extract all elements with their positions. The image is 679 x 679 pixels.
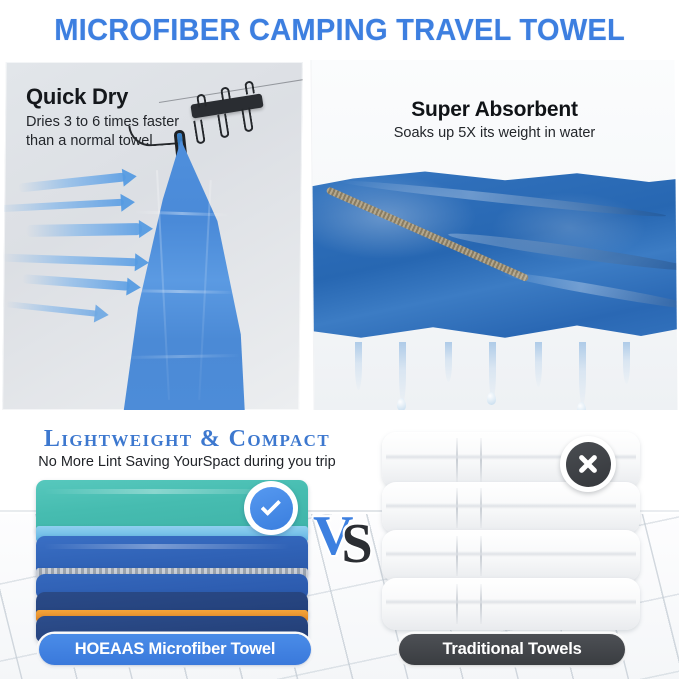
vs-divider-label: VS	[313, 508, 371, 564]
x-circle-icon	[560, 436, 616, 492]
wind-arrow	[22, 274, 130, 291]
x-circle-fill	[566, 442, 611, 487]
water-drip	[399, 342, 406, 404]
white-towel-layer	[382, 482, 640, 534]
wind-arrow	[6, 301, 98, 317]
hook-icon	[241, 107, 254, 132]
water-drip	[445, 342, 452, 382]
hook-icon	[220, 86, 231, 100]
super-absorbent-subtitle: Soaks up 5X its weight in water	[313, 125, 676, 141]
super-absorbent-text-block: Super Absorbent Soaks up 5X its weight i…	[313, 98, 676, 141]
wind-arrow	[18, 172, 126, 192]
label-traditional-towels: Traditional Towels	[399, 634, 625, 665]
comparison-heading-block: Lightweight & Compact No More Lint Savin…	[22, 426, 352, 470]
check-circle-icon	[244, 481, 298, 535]
water-drip-icon	[313, 342, 676, 410]
vs-letter-s: S	[341, 516, 370, 572]
panel-super-absorbent-content: Super Absorbent Soaks up 5X its weight i…	[313, 60, 676, 410]
super-absorbent-title: Super Absorbent	[313, 98, 676, 122]
label-hoeaas-microfiber-towel: HOEAAS Microfiber Towel	[39, 634, 311, 665]
water-drip	[623, 342, 630, 384]
towel-fold	[498, 268, 678, 314]
wet-towel-icon	[310, 168, 677, 343]
white-towel-layer	[382, 578, 640, 630]
wind-arrow	[26, 223, 142, 237]
panel-super-absorbent: Super Absorbent Soaks up 5X its weight i…	[310, 60, 677, 410]
water-drip	[579, 342, 586, 406]
header-banner: MICROFIBER CAMPING TRAVEL TOWEL	[0, 0, 679, 60]
water-drip	[355, 342, 362, 390]
wind-arrow	[2, 199, 124, 213]
wind-arrow	[2, 254, 138, 267]
page-title: MICROFIBER CAMPING TRAVEL TOWEL	[54, 12, 625, 48]
water-droplet	[487, 392, 496, 405]
towel-fold	[447, 229, 677, 276]
airflow-arrow-icon	[2, 170, 181, 350]
check-circle-fill	[250, 487, 293, 530]
panel-quick-dry: Quick Dry Dries 3 to 6 times faster than…	[2, 62, 303, 410]
comparison-heading: Lightweight & Compact	[22, 426, 352, 453]
towel-highlight	[44, 544, 289, 549]
hook-icon	[217, 113, 230, 138]
hook-icon	[244, 80, 255, 94]
feature-panels-row: Quick Dry Dries 3 to 6 times faster than…	[0, 58, 679, 418]
panel-quick-dry-content: Quick Dry Dries 3 to 6 times faster than…	[4, 62, 301, 410]
comparison-subheading: No More Lint Saving YourSpact during you…	[22, 454, 352, 470]
check-mark-glyph	[260, 496, 281, 517]
product-infographic: MICROFIBER CAMPING TRAVEL TOWEL Quick Dr…	[0, 0, 679, 679]
water-drip	[535, 342, 542, 387]
white-towel-layer	[382, 530, 640, 582]
water-droplet	[397, 398, 406, 410]
towel-band	[386, 503, 636, 509]
towel-band	[386, 551, 636, 557]
towel-band	[386, 599, 636, 605]
water-droplet	[577, 402, 586, 410]
